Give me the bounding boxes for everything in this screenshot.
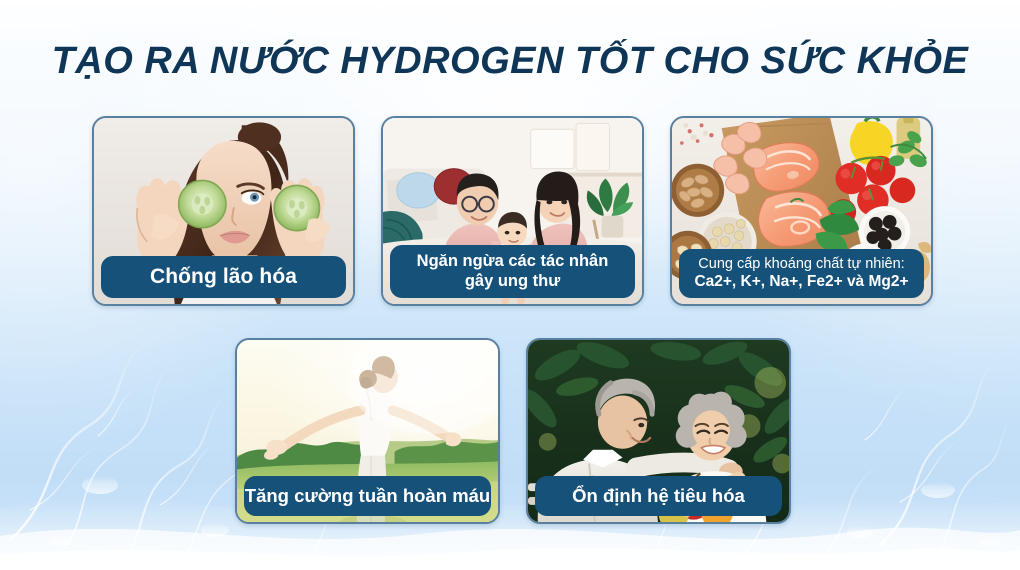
benefits-row-top: Chống lão hóa — [92, 116, 933, 306]
benefit-card-anti-aging[interactable]: Chống lão hóa — [92, 116, 355, 306]
benefit-label-natural-minerals: Cung cấp khoáng chất tự nhiên: Ca2+, K+,… — [679, 249, 924, 298]
benefit-card-digestive-stability[interactable]: Ổn định hệ tiêu hóa — [526, 338, 791, 524]
benefit-card-blood-circulation[interactable]: Tăng cường tuần hoàn máu — [235, 338, 500, 524]
benefit-label-line: Ngăn ngừa các tác nhân — [417, 252, 609, 271]
benefit-label-line: Ca2+, K+, Na+, Fe2+ và Mg2+ — [694, 273, 908, 291]
benefit-card-cancer-prevention[interactable]: Ngăn ngừa các tác nhân gây ung thư — [381, 116, 644, 306]
benefit-label-line: Ổn định hệ tiêu hóa — [572, 485, 745, 507]
benefit-card-natural-minerals[interactable]: Cung cấp khoáng chất tự nhiên: Ca2+, K+,… — [670, 116, 933, 306]
benefit-label-line: Chống lão hóa — [150, 265, 297, 290]
benefit-label-anti-aging: Chống lão hóa — [101, 256, 346, 298]
benefit-label-blood-circulation: Tăng cường tuần hoàn máu — [244, 476, 491, 516]
benefit-label-digestive-stability: Ổn định hệ tiêu hóa — [535, 476, 782, 516]
page-title: TẠO RA NƯỚC HYDROGEN TỐT CHO SỨC KHỎE — [52, 40, 969, 83]
benefit-label-line: Cung cấp khoáng chất tự nhiên: — [698, 256, 904, 273]
benefit-label-cancer-prevention: Ngăn ngừa các tác nhân gây ung thư — [390, 245, 635, 298]
page-title-container: TẠO RA NƯỚC HYDROGEN TỐT CHO SỨC KHỎE — [0, 40, 1020, 83]
benefits-row-bottom: Tăng cường tuần hoàn máu — [235, 338, 791, 524]
benefit-label-line: Tăng cường tuần hoàn máu — [245, 485, 490, 507]
benefit-label-line: gây ung thư — [465, 272, 560, 291]
